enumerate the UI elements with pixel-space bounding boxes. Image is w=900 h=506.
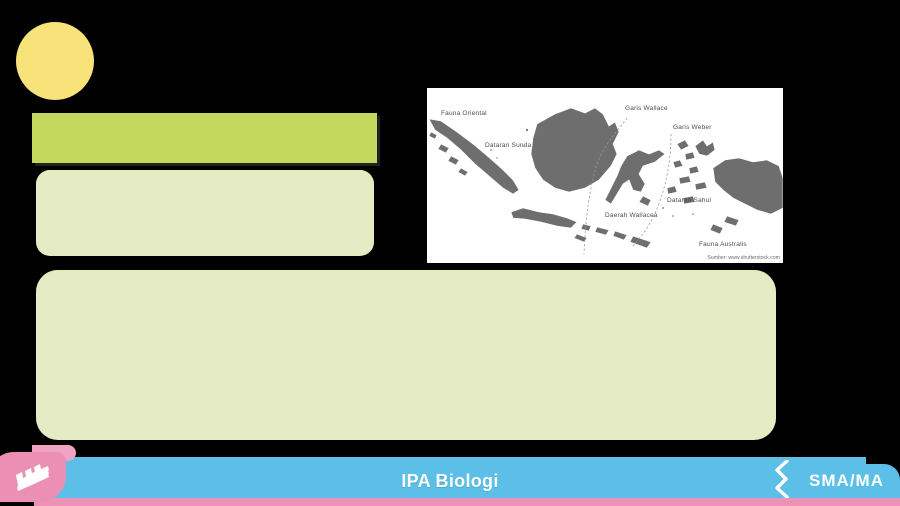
slide-canvas: Fauna Oriental Dataran Sunda Garis Walla… <box>0 0 900 506</box>
footer-badge <box>0 452 74 502</box>
footer-accent-tab <box>60 457 866 464</box>
bullet-circle <box>16 22 94 100</box>
zigzag-divider-icon <box>774 460 790 498</box>
book-icon <box>12 461 52 493</box>
map-label-garis-weber: Garis Weber <box>673 124 712 131</box>
map-label-dataran-sunda: Dataran Sunda <box>485 142 531 149</box>
map-label-fauna-oriental: Fauna Oriental <box>441 110 487 117</box>
footer-education-level: SMA/MA <box>809 464 884 498</box>
map-source-credit: Sumber: www.shutterstock.com <box>707 255 780 261</box>
section-header-bar <box>32 113 377 163</box>
map-label-garis-wallace: Garis Wallace <box>625 105 668 112</box>
map-label-dataran-sahul: Dataran Sahul <box>667 197 711 204</box>
map-label-fauna-australis: Fauna Australis <box>699 241 747 248</box>
map-figure: Fauna Oriental Dataran Sunda Garis Walla… <box>427 88 783 263</box>
footer-subject-title: IPA Biologi <box>0 464 900 498</box>
content-panel <box>36 270 776 440</box>
subtitle-panel-text <box>36 170 374 190</box>
map-label-daerah-wallacea: Daerah Wallacea <box>605 212 658 219</box>
subtitle-panel <box>36 170 374 256</box>
footer-pink-underline <box>34 498 900 506</box>
content-panel-text <box>36 270 776 302</box>
footer-bar: IPA Biologi SMA/MA <box>0 450 900 506</box>
